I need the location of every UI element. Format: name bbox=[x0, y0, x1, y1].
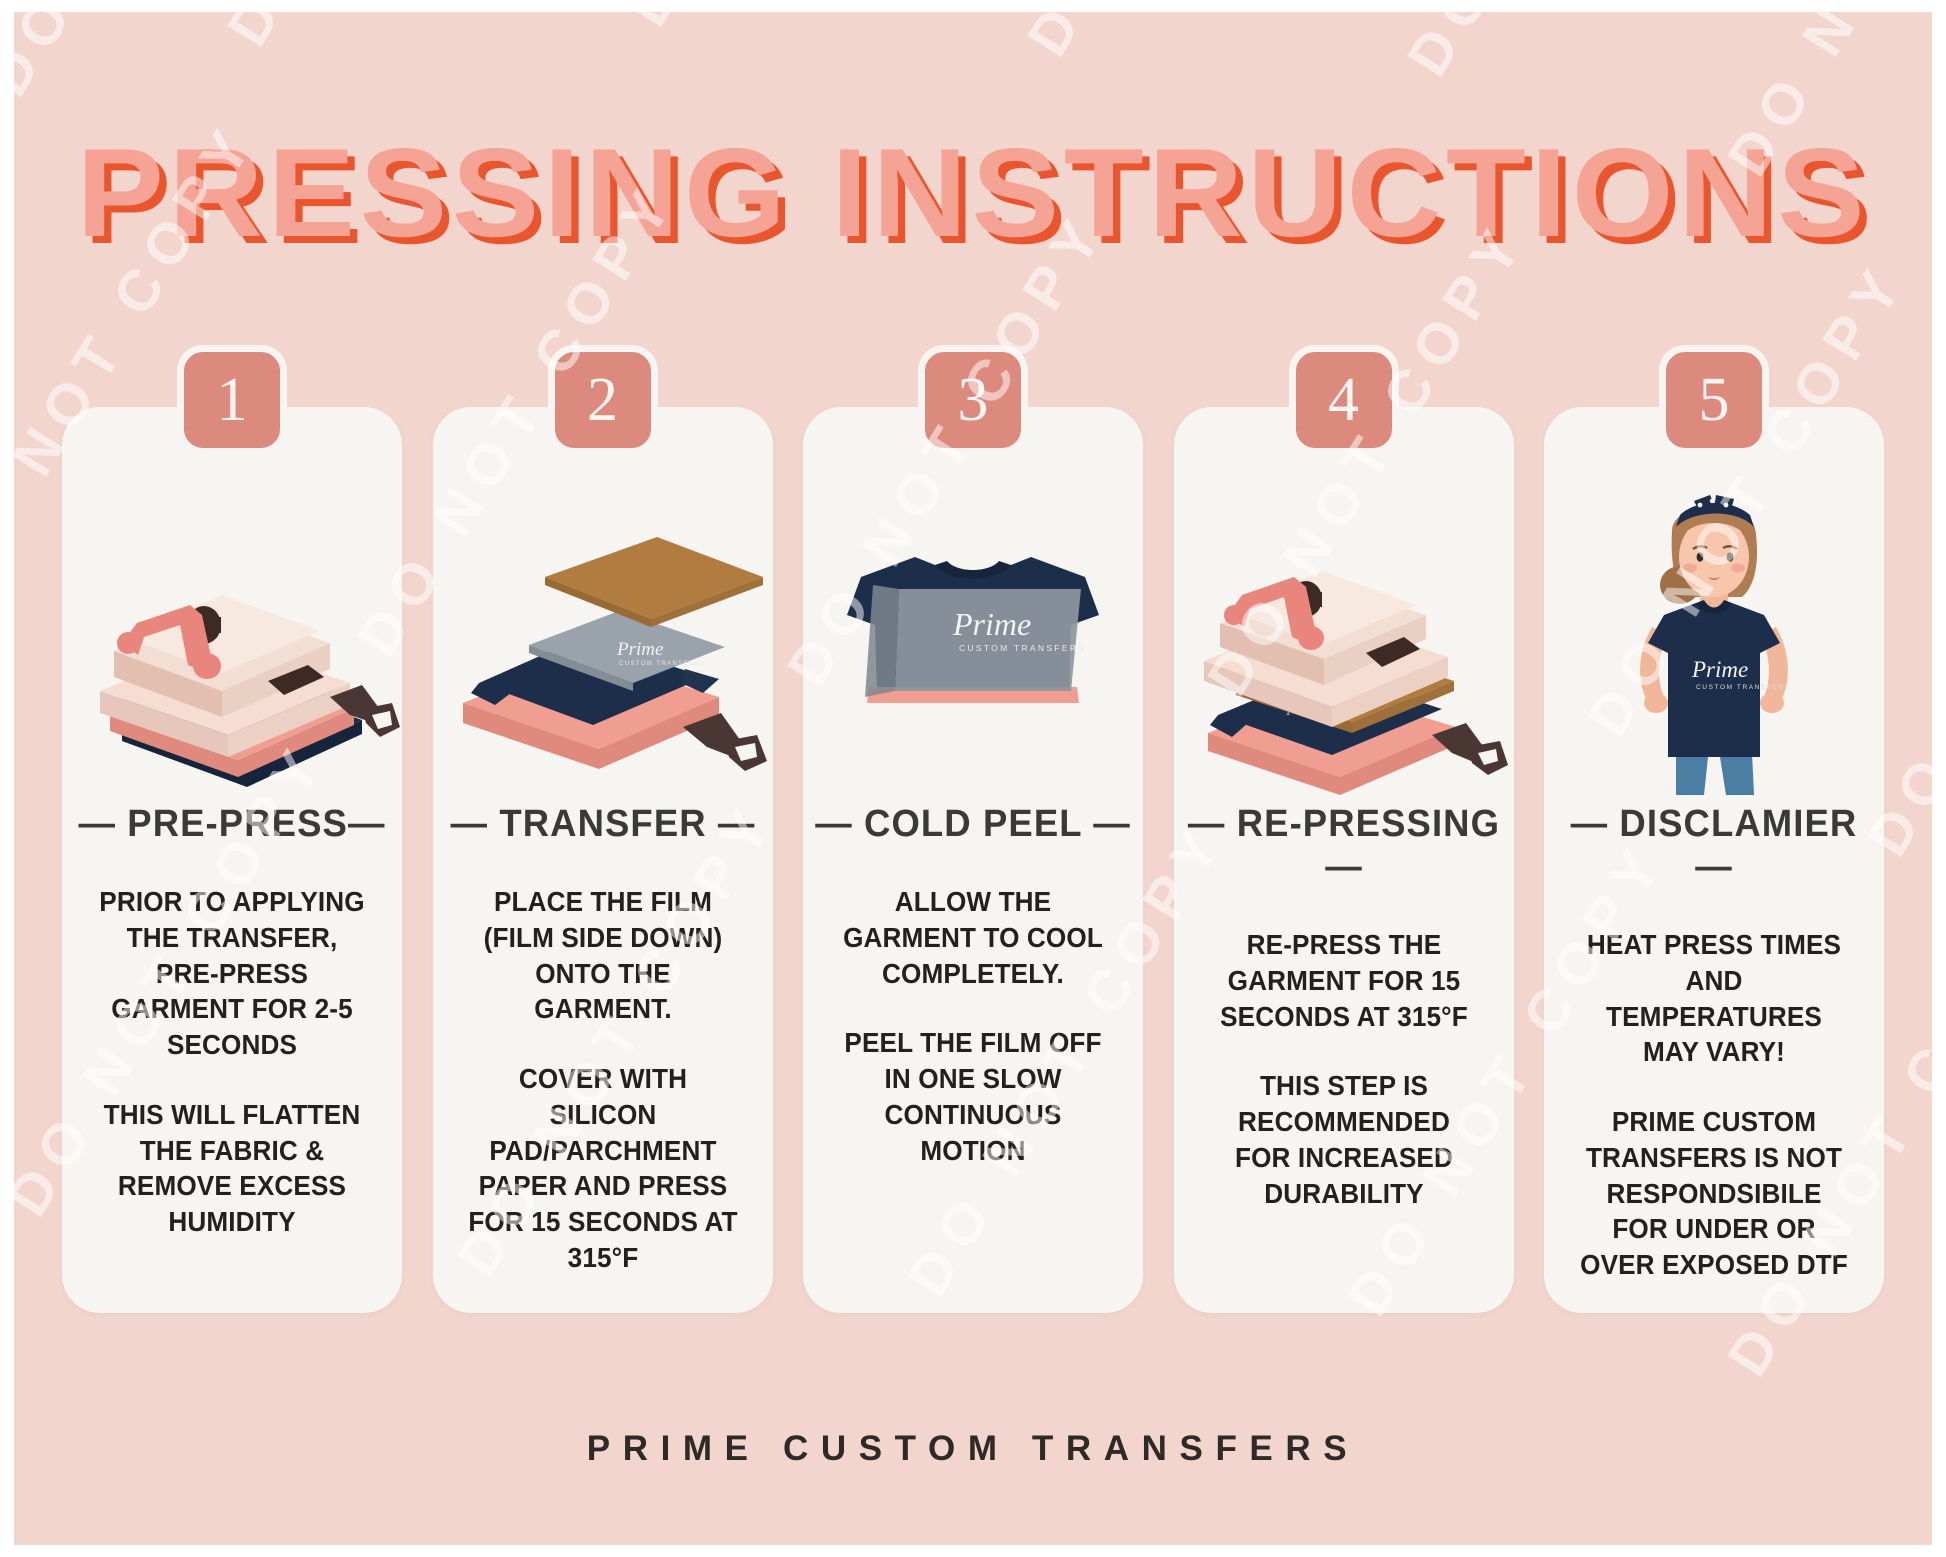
illustration-heat-press-repress: Prime bbox=[1174, 465, 1514, 795]
step-paragraph: COVER WITH SILICON PAD/PARCHMENT PAPER A… bbox=[466, 1061, 740, 1276]
svg-text:CUSTOM TRANSFERS: CUSTOM TRANSFERS bbox=[959, 643, 1086, 653]
step-body-1: PRIOR TO APPLYING THE TRANSFER, PRE-PRES… bbox=[88, 884, 376, 1240]
step-paragraph: THIS STEP IS RECOMMENDED FOR INCREASED D… bbox=[1207, 1068, 1481, 1211]
footer-brand: PRIME CUSTOM TRANSFERS bbox=[587, 1429, 1359, 1468]
shirt-with-film-icon: Prime CUSTOM TRANSFERS bbox=[803, 465, 1143, 795]
illustration-shirt-with-film: Prime CUSTOM TRANSFERS bbox=[803, 465, 1143, 795]
watermark-text: DO NOT COPY bbox=[1014, 12, 1360, 68]
step-paragraph: PRIOR TO APPLYING THE TRANSFER, PRE-PRES… bbox=[95, 884, 369, 1063]
page-title: PRESSING INSTRUCTIONS bbox=[77, 130, 1870, 256]
step-paragraph: PEEL THE FILM OFF IN ONE SLOW CONTINUOUS… bbox=[836, 1025, 1110, 1168]
step-number-badge-5: 5 bbox=[1659, 345, 1769, 455]
illustration-film-layers-on-garment: Prime CUSTOM TRANSFERS bbox=[433, 465, 773, 795]
watermark-text: DO NOT COPY bbox=[1394, 12, 1740, 88]
svg-text:Prime: Prime bbox=[616, 639, 663, 660]
step-paragraph: THIS WILL FLATTEN THE FABRIC & REMOVE EX… bbox=[95, 1097, 369, 1240]
illustration-heat-press-closed bbox=[62, 465, 402, 795]
heat-press-closed-icon bbox=[62, 465, 402, 795]
step-card-1: 1 bbox=[62, 407, 402, 1313]
step-heading-3: — COLD PEEL — bbox=[810, 803, 1136, 846]
step-paragraph: HEAT PRESS TIMES AND TEMPERATURES MAY VA… bbox=[1577, 927, 1851, 1070]
step-paragraph: RE-PRESS THE GARMENT FOR 15 SECONDS AT 3… bbox=[1207, 927, 1481, 1034]
step-body-4: RE-PRESS THE GARMENT FOR 15 SECONDS AT 3… bbox=[1200, 927, 1488, 1211]
step-number-badge-2: 2 bbox=[548, 345, 658, 455]
poster-canvas: PRESSING INSTRUCTIONS 1 bbox=[14, 12, 1932, 1545]
heat-press-repress-icon: Prime bbox=[1174, 465, 1514, 795]
svg-text:CUSTOM TRANSFERS: CUSTOM TRANSFERS bbox=[619, 661, 705, 667]
step-number-badge-4: 4 bbox=[1289, 345, 1399, 455]
step-body-2: PLACE THE FILM (FILM SIDE DOWN) ONTO THE… bbox=[459, 884, 747, 1276]
footer-brand-wrap: PRIME CUSTOM TRANSFERS bbox=[14, 1429, 1932, 1469]
step-paragraph: PLACE THE FILM (FILM SIDE DOWN) ONTO THE… bbox=[466, 884, 740, 1027]
step-heading-5: — DISCLAMIER — bbox=[1551, 803, 1877, 889]
step-card-2: 2 Prime CUSTOM TRANSF bbox=[433, 407, 773, 1313]
woman-wearing-shirt-icon: Prime CUSTOM TRANSFERS bbox=[1544, 465, 1884, 795]
step-heading-4: — RE-PRESSING — bbox=[1180, 803, 1506, 889]
watermark-text: DO NOT COPY bbox=[614, 12, 960, 38]
svg-text:CUSTOM TRANSFERS: CUSTOM TRANSFERS bbox=[1696, 684, 1791, 691]
illustration-woman-wearing-shirt: Prime CUSTOM TRANSFERS bbox=[1544, 465, 1884, 795]
svg-text:Prime: Prime bbox=[952, 606, 1031, 642]
step-paragraph: ALLOW THE GARMENT TO COOL COMPLETELY. bbox=[836, 884, 1110, 991]
step-body-3: ALLOW THE GARMENT TO COOL COMPLETELY. PE… bbox=[829, 884, 1117, 1168]
watermark-text: DO NOT COPY bbox=[214, 12, 560, 58]
step-card-5: 5 bbox=[1544, 407, 1884, 1313]
watermark-text: DO NOT COPY bbox=[14, 12, 320, 108]
step-card-3: 3 Prime CUSTOM TRANSFERS — COLD bbox=[803, 407, 1143, 1313]
step-number-badge-3: 3 bbox=[918, 345, 1028, 455]
step-paragraph: PRIME CUSTOM TRANSFERS IS NOT RESPONDSIB… bbox=[1577, 1104, 1851, 1283]
step-body-5: HEAT PRESS TIMES AND TEMPERATURES MAY VA… bbox=[1570, 927, 1858, 1283]
svg-text:Prime: Prime bbox=[1691, 657, 1748, 682]
steps-row: 1 bbox=[62, 407, 1884, 1313]
film-layers-icon: Prime CUSTOM TRANSFERS bbox=[433, 465, 773, 795]
step-number-badge-1: 1 bbox=[177, 345, 287, 455]
step-card-4: 4 Prime bbox=[1174, 407, 1514, 1313]
page-title-wrap: PRESSING INSTRUCTIONS bbox=[14, 130, 1932, 256]
step-heading-1: — PRE-PRESS— bbox=[69, 803, 395, 846]
step-heading-2: — TRANSFER — bbox=[439, 803, 765, 846]
